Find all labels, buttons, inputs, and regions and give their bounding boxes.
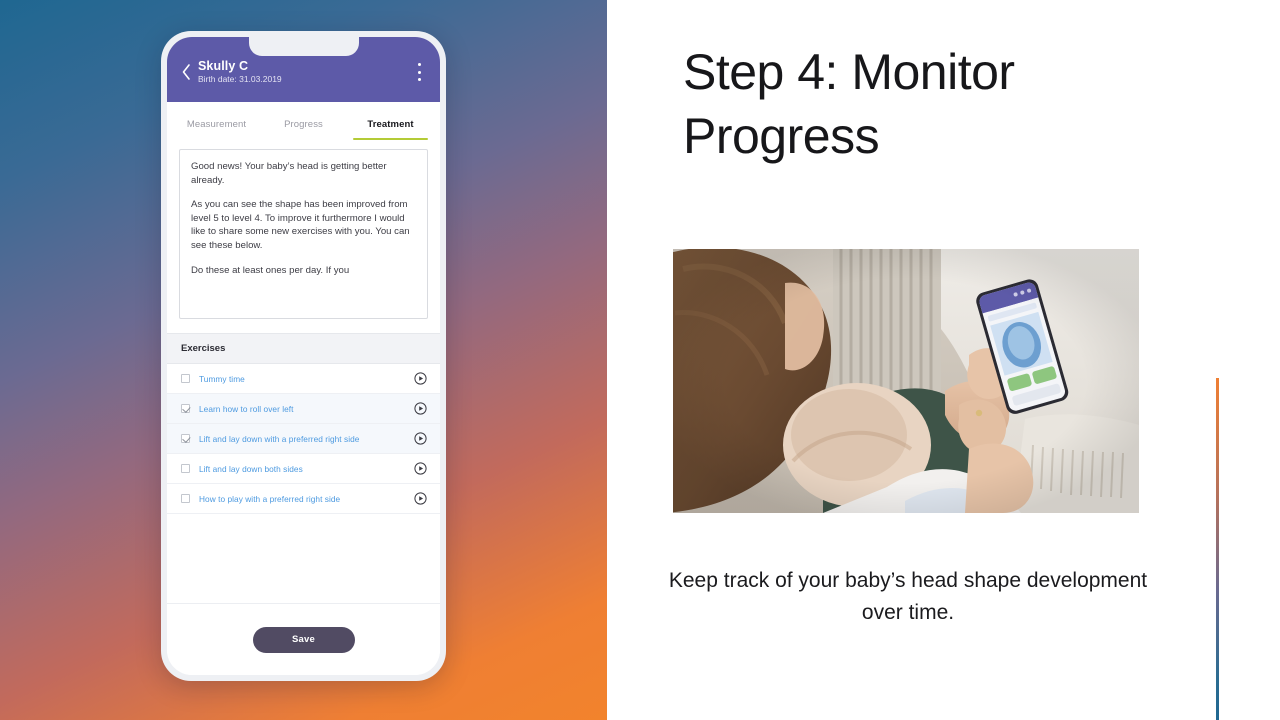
tab-measurement[interactable]: Measurement (173, 102, 260, 146)
play-circle-icon[interactable] (414, 372, 427, 385)
phone-footer: Save (167, 603, 440, 675)
exercise-checkbox[interactable] (181, 494, 190, 503)
save-button[interactable]: Save (253, 627, 355, 653)
message-area: Good news! Your baby’s head is getting b… (167, 146, 440, 319)
play-circle-icon[interactable] (414, 462, 427, 475)
list-empty-space (167, 514, 440, 603)
exercise-row[interactable]: How to play with a preferred right side (167, 484, 440, 514)
tab-bar: Measurement Progress Treatment (167, 102, 440, 146)
gradient-background-panel: Skully C Birth date: 31.03.2019 Measurem… (0, 0, 607, 720)
exercise-label[interactable]: Lift and lay down with a preferred right… (199, 434, 414, 444)
therapist-message-card: Good news! Your baby’s head is getting b… (179, 149, 428, 319)
exercise-checkbox[interactable] (181, 374, 190, 383)
exercise-row[interactable]: Lift and lay down both sides (167, 454, 440, 484)
tab-treatment[interactable]: Treatment (347, 102, 434, 146)
patient-info: Skully C Birth date: 31.03.2019 (198, 59, 412, 85)
exercise-checkbox[interactable] (181, 434, 190, 443)
accent-divider-line (1216, 378, 1219, 720)
exercise-label[interactable]: Lift and lay down both sides (199, 464, 414, 474)
kebab-menu-icon[interactable] (412, 61, 426, 83)
exercise-row[interactable]: Tummy time (167, 364, 440, 394)
exercises-list: Tummy time Learn how to roll over left (167, 364, 440, 514)
exercise-checkbox[interactable] (181, 464, 190, 473)
app-header: Skully C Birth date: 31.03.2019 (167, 37, 440, 102)
message-paragraph-2: As you can see the shape has been improv… (191, 198, 416, 252)
exercise-row[interactable]: Learn how to roll over left (167, 394, 440, 424)
phone-notch (249, 37, 359, 56)
chevron-left-icon[interactable] (179, 62, 193, 82)
exercise-label[interactable]: How to play with a preferred right side (199, 494, 414, 504)
tab-progress[interactable]: Progress (260, 102, 347, 146)
patient-birth-date: Birth date: 31.03.2019 (198, 75, 412, 85)
message-paragraph-1: Good news! Your baby’s head is getting b… (191, 160, 416, 187)
content-panel: Step 4: Monitor Progress (607, 0, 1280, 720)
exercise-label[interactable]: Tummy time (199, 374, 414, 384)
exercises-section-header: Exercises (167, 333, 440, 364)
play-circle-icon[interactable] (414, 492, 427, 505)
slide-root: Skully C Birth date: 31.03.2019 Measurem… (0, 0, 1280, 720)
phone-screen: Skully C Birth date: 31.03.2019 Measurem… (167, 37, 440, 675)
page-title: Step 4: Monitor Progress (683, 40, 1163, 168)
exercise-row[interactable]: Lift and lay down with a preferred right… (167, 424, 440, 454)
phone-mockup: Skully C Birth date: 31.03.2019 Measurem… (161, 31, 446, 681)
play-circle-icon[interactable] (414, 402, 427, 415)
exercise-checkbox[interactable] (181, 404, 190, 413)
play-circle-icon[interactable] (414, 432, 427, 445)
hero-photo (673, 249, 1139, 513)
patient-name: Skully C (198, 59, 412, 73)
message-paragraph-3: Do these at least ones per day. If you (191, 264, 416, 278)
photo-caption: Keep track of your baby’s head shape dev… (653, 565, 1163, 628)
exercise-label[interactable]: Learn how to roll over left (199, 404, 414, 414)
